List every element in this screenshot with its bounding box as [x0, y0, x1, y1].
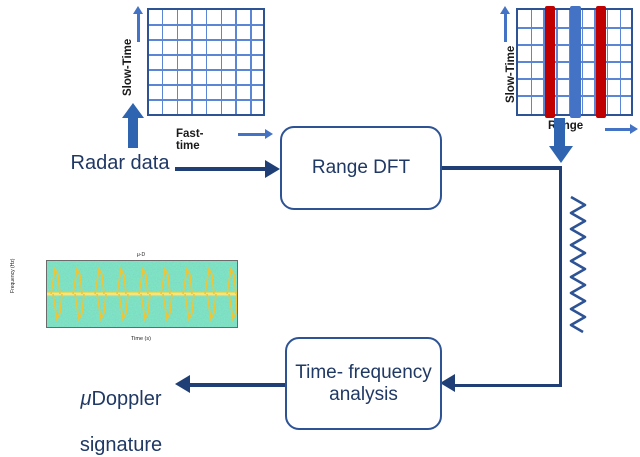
slow-time-arrow-head-left	[133, 6, 143, 14]
fast-slow-grid	[147, 8, 265, 116]
slow-time-arrow-head-right	[500, 6, 510, 14]
arrow-radar-to-rangedft-head	[265, 160, 280, 178]
fast-time-arrow-head	[265, 129, 273, 139]
range-down-arrow-head	[549, 146, 573, 163]
range-bin-highlight-blue	[570, 6, 581, 118]
range-slow-grid	[516, 8, 633, 116]
spectrogram-title: μ-D	[46, 252, 236, 258]
spectrogram-figure: μ-D Frequency (Hz)	[8, 252, 246, 350]
range-dft-block[interactable]: Range DFT	[280, 126, 442, 210]
fast-time-label: Fast-time	[176, 128, 203, 152]
udoppler-word: Doppler	[91, 388, 161, 410]
fast-time-arrow-shaft	[238, 133, 266, 136]
radar-data-up-arrow-shaft	[128, 118, 138, 148]
spectrogram-plot-area: 4000 2000 0 -2000 -4000 0.1 0.2 0.3 0.4 …	[46, 260, 238, 328]
slow-time-arrow-shaft-right	[504, 14, 507, 42]
flow-right-vertical	[559, 166, 563, 385]
udoppler-signature-label: μDoppler signature	[42, 365, 200, 457]
time-frequency-analysis-block[interactable]: Time- frequency analysis	[285, 337, 442, 430]
range-bin-highlight-red-2	[596, 6, 606, 118]
range-dft-label: Range DFT	[312, 157, 410, 178]
slow-time-arrow-shaft-left	[137, 14, 140, 42]
spectrogram-ylabel: Frequency (Hz)	[10, 259, 16, 293]
arrow-radar-to-rangedft-shaft	[175, 167, 267, 171]
signature-word: signature	[80, 434, 162, 456]
range-arrow-shaft	[605, 128, 631, 131]
spectrogram-xlabel: Time (s)	[46, 336, 236, 342]
spring-coil-icon	[563, 195, 593, 335]
spectrogram-image	[47, 261, 237, 327]
range-down-arrow-shaft	[554, 118, 565, 148]
arrow-tf-to-udoppler-shaft	[190, 383, 285, 387]
slow-time-label-left: Slow-Time	[122, 39, 134, 96]
range-arrow-head	[630, 124, 638, 134]
fast-slow-grid-lines	[149, 10, 263, 114]
range-bin-highlight-red-1	[545, 6, 555, 118]
radar-data-label: Radar data	[40, 152, 200, 175]
mu-symbol: μ	[80, 388, 91, 410]
time-frequency-analysis-label: Time- frequency analysis	[287, 362, 440, 405]
radar-data-up-arrow-head	[122, 103, 144, 118]
flow-into-tf-head	[440, 374, 455, 392]
flow-rangedft-right	[442, 166, 562, 170]
flow-into-tf	[455, 384, 562, 388]
